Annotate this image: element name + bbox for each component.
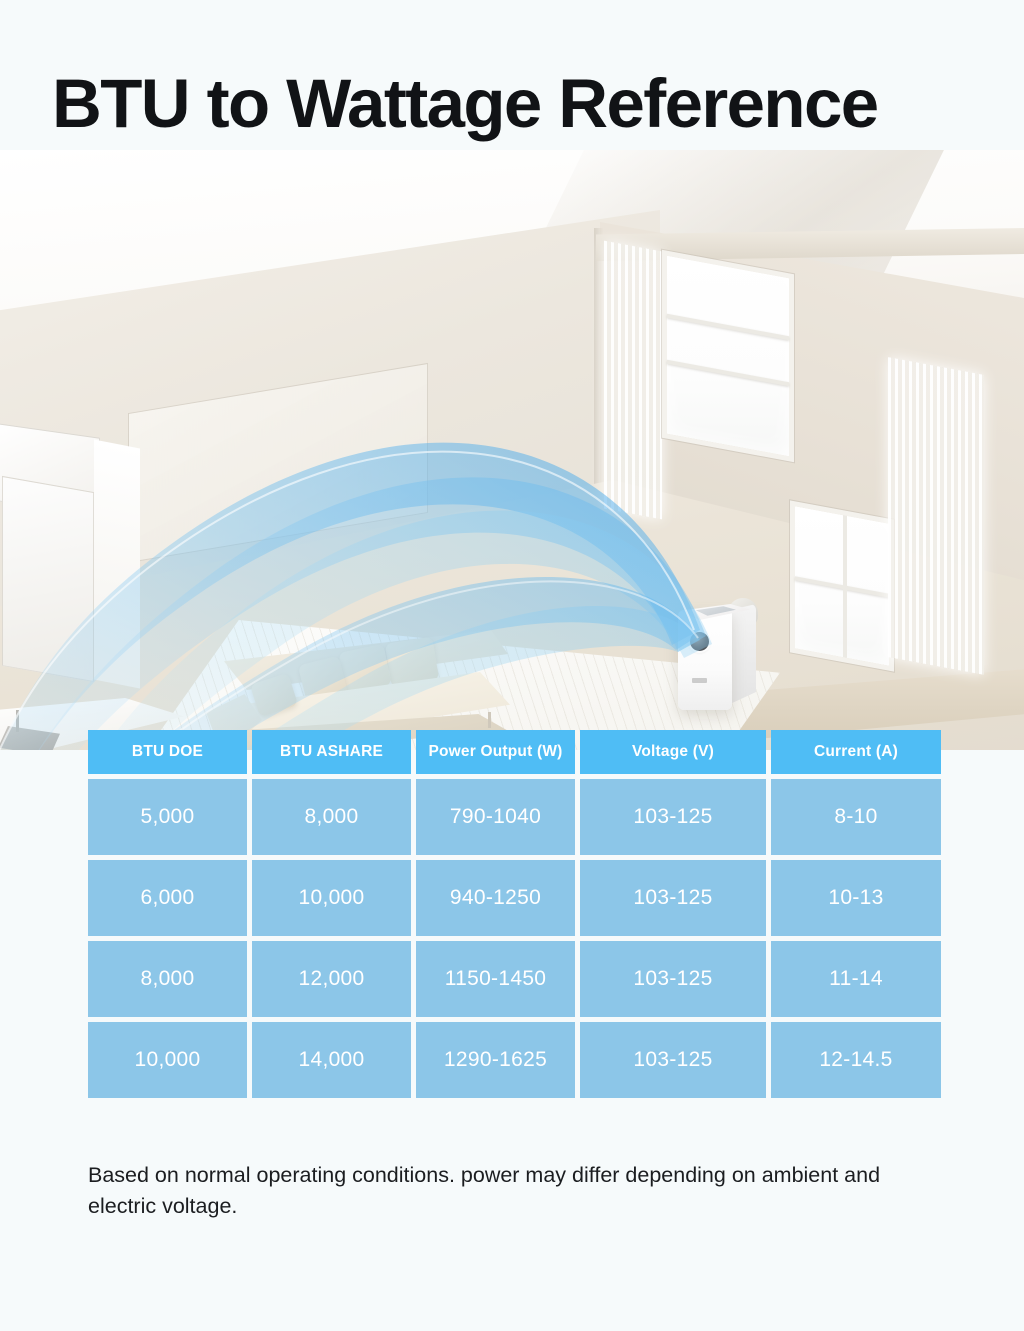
ac-control-dial-icon — [690, 632, 709, 651]
table-row: 6,000 10,000 940-1250 103-125 10-13 — [88, 860, 936, 936]
table-row: 5,000 8,000 790-1040 103-125 8-10 — [88, 779, 936, 855]
table-cell: 8,000 — [88, 941, 247, 1017]
kitchen-tall-cabinet — [2, 476, 94, 682]
column-header-voltage: Voltage (V) — [580, 730, 766, 774]
window-right — [790, 500, 894, 671]
page-title: BTU to Wattage Reference — [52, 68, 878, 140]
table-cell: 10,000 — [88, 1022, 247, 1098]
kitchen-area — [0, 430, 170, 750]
ac-brand-logo — [692, 678, 707, 683]
sofa-leg — [488, 712, 491, 728]
table-cell: 12-14.5 — [771, 1022, 941, 1098]
table-cell: 103-125 — [580, 779, 766, 855]
table-cell: 6,000 — [88, 860, 247, 936]
window-mullion-vertical — [843, 515, 847, 658]
table-cell: 5,000 — [88, 779, 247, 855]
column-header-power-output: Power Output (W) — [416, 730, 575, 774]
btu-wattage-table: BTU DOE BTU ASHARE Power Output (W) Volt… — [88, 730, 936, 1098]
table-footnote: Based on normal operating conditions. po… — [88, 1160, 908, 1221]
table-cell: 103-125 — [580, 941, 766, 1017]
curtain-left — [604, 241, 662, 520]
window-mullion-horizontal — [667, 314, 789, 341]
table-cell: 103-125 — [580, 1022, 766, 1098]
table-cell: 940-1250 — [416, 860, 575, 936]
kitchen-column — [94, 440, 140, 689]
table-cell: 10,000 — [252, 860, 411, 936]
column-header-btu-doe: BTU DOE — [88, 730, 247, 774]
window-mullion-horizontal — [795, 576, 889, 597]
table-header-row: BTU DOE BTU ASHARE Power Output (W) Volt… — [88, 730, 936, 774]
table-cell: 8,000 — [252, 779, 411, 855]
table-row: 10,000 14,000 1290-1625 103-125 12-14.5 — [88, 1022, 936, 1098]
table-cell: 10-13 — [771, 860, 941, 936]
table-cell: 1150-1450 — [416, 941, 575, 1017]
table-cell: 11-14 — [771, 941, 941, 1017]
column-header-btu-ashare: BTU ASHARE — [252, 730, 411, 774]
column-header-current: Current (A) — [771, 730, 941, 774]
table-cell: 8-10 — [771, 779, 941, 855]
ac-front-panel — [678, 610, 732, 710]
table-cell: 103-125 — [580, 860, 766, 936]
table-cell: 1290-1625 — [416, 1022, 575, 1098]
portable-air-conditioner — [678, 602, 756, 714]
curtain-right — [888, 357, 984, 675]
table-cell: 790-1040 — [416, 779, 575, 855]
window-mullion-horizontal — [667, 360, 789, 387]
table-row: 8,000 12,000 1150-1450 103-125 11-14 — [88, 941, 936, 1017]
table-cell: 14,000 — [252, 1022, 411, 1098]
kitchen-faucet — [16, 710, 19, 732]
reference-page: BTU to Wattage Reference — [0, 0, 1024, 1331]
room-scene-illustration — [0, 150, 1024, 750]
table-cell: 12,000 — [252, 941, 411, 1017]
window-left — [662, 250, 794, 462]
ac-side-panel — [730, 604, 756, 704]
